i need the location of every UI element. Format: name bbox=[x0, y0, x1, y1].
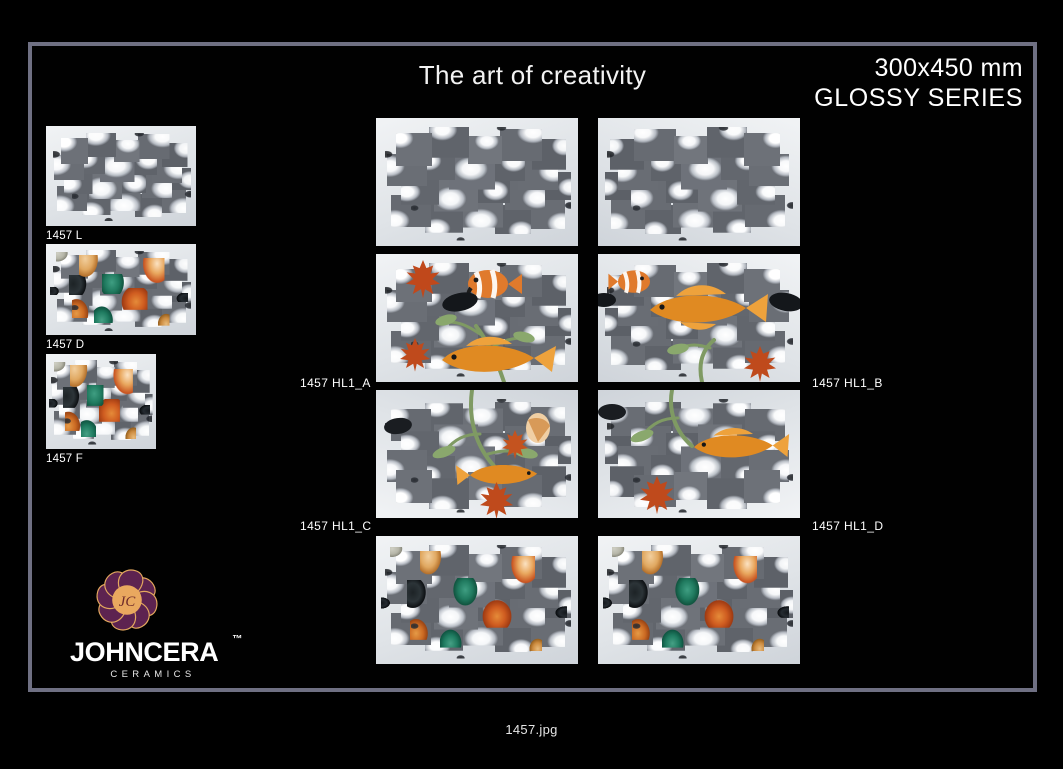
johncera-mandala-icon: JC bbox=[90, 563, 164, 637]
grid-tile-1457-HL1-D[interactable] bbox=[598, 390, 800, 518]
poster-sheet: The art of creativity 300x450 mm GLOSSY … bbox=[32, 46, 1033, 688]
sidebar-tile-label-1457-F: 1457 F bbox=[46, 453, 83, 465]
series-label: GLOSSY SERIES bbox=[814, 84, 1023, 114]
sidebar-tile-1457-D[interactable] bbox=[46, 244, 196, 335]
grid-tile-label-1457-HL1-D: 1457 HL1_D bbox=[812, 519, 883, 533]
brand-tagline: CERAMICS bbox=[70, 669, 230, 680]
sidebar-tile-label-1457-L: 1457 L bbox=[46, 230, 82, 242]
tile-size-label: 300x450 mm bbox=[814, 54, 1023, 84]
grid-tile-label-1457-HL1-A: 1457 HL1_A bbox=[300, 376, 371, 390]
sidebar-tile-label-1457-D: 1457 D bbox=[46, 339, 84, 351]
tile-artwork-coloured bbox=[46, 244, 196, 335]
brand-wordmark: JOHNCERA™ bbox=[70, 639, 230, 666]
trademark-symbol: ™ bbox=[232, 635, 242, 645]
poster-frame: The art of creativity 300x450 mm GLOSSY … bbox=[28, 42, 1037, 692]
grid-tile-label-1457-HL1-C: 1457 HL1_C bbox=[300, 519, 371, 533]
grid-tile-r4c2[interactable] bbox=[598, 536, 800, 664]
grid-tile-r1c2[interactable] bbox=[598, 118, 800, 246]
grid-tile-label-1457-HL1-B: 1457 HL1_B bbox=[812, 376, 883, 390]
tile-artwork-coloured bbox=[46, 354, 156, 449]
brand-logo: JC JOHNCERA™ CERAMICS bbox=[70, 563, 230, 680]
brand-name: JOHNCERA bbox=[70, 637, 218, 667]
grid-tile-1457-HL1-C[interactable] bbox=[376, 390, 578, 518]
grid-tile-1457-HL1-A[interactable] bbox=[376, 254, 578, 382]
grid-tile-r4c1[interactable] bbox=[376, 536, 578, 664]
image-viewer: The art of creativity 300x450 mm GLOSSY … bbox=[0, 0, 1063, 769]
grid-tile-1457-HL1-B[interactable] bbox=[598, 254, 800, 382]
sidebar-tile-1457-L[interactable] bbox=[46, 126, 196, 226]
size-series-block: 300x450 mm GLOSSY SERIES bbox=[814, 54, 1023, 113]
grid-tile-r1c1[interactable] bbox=[376, 118, 578, 246]
sidebar-tile-1457-F[interactable] bbox=[46, 354, 156, 449]
file-name-caption: 1457.jpg bbox=[0, 722, 1063, 737]
svg-text:JC: JC bbox=[119, 594, 136, 610]
tile-artwork-plain bbox=[46, 126, 196, 226]
